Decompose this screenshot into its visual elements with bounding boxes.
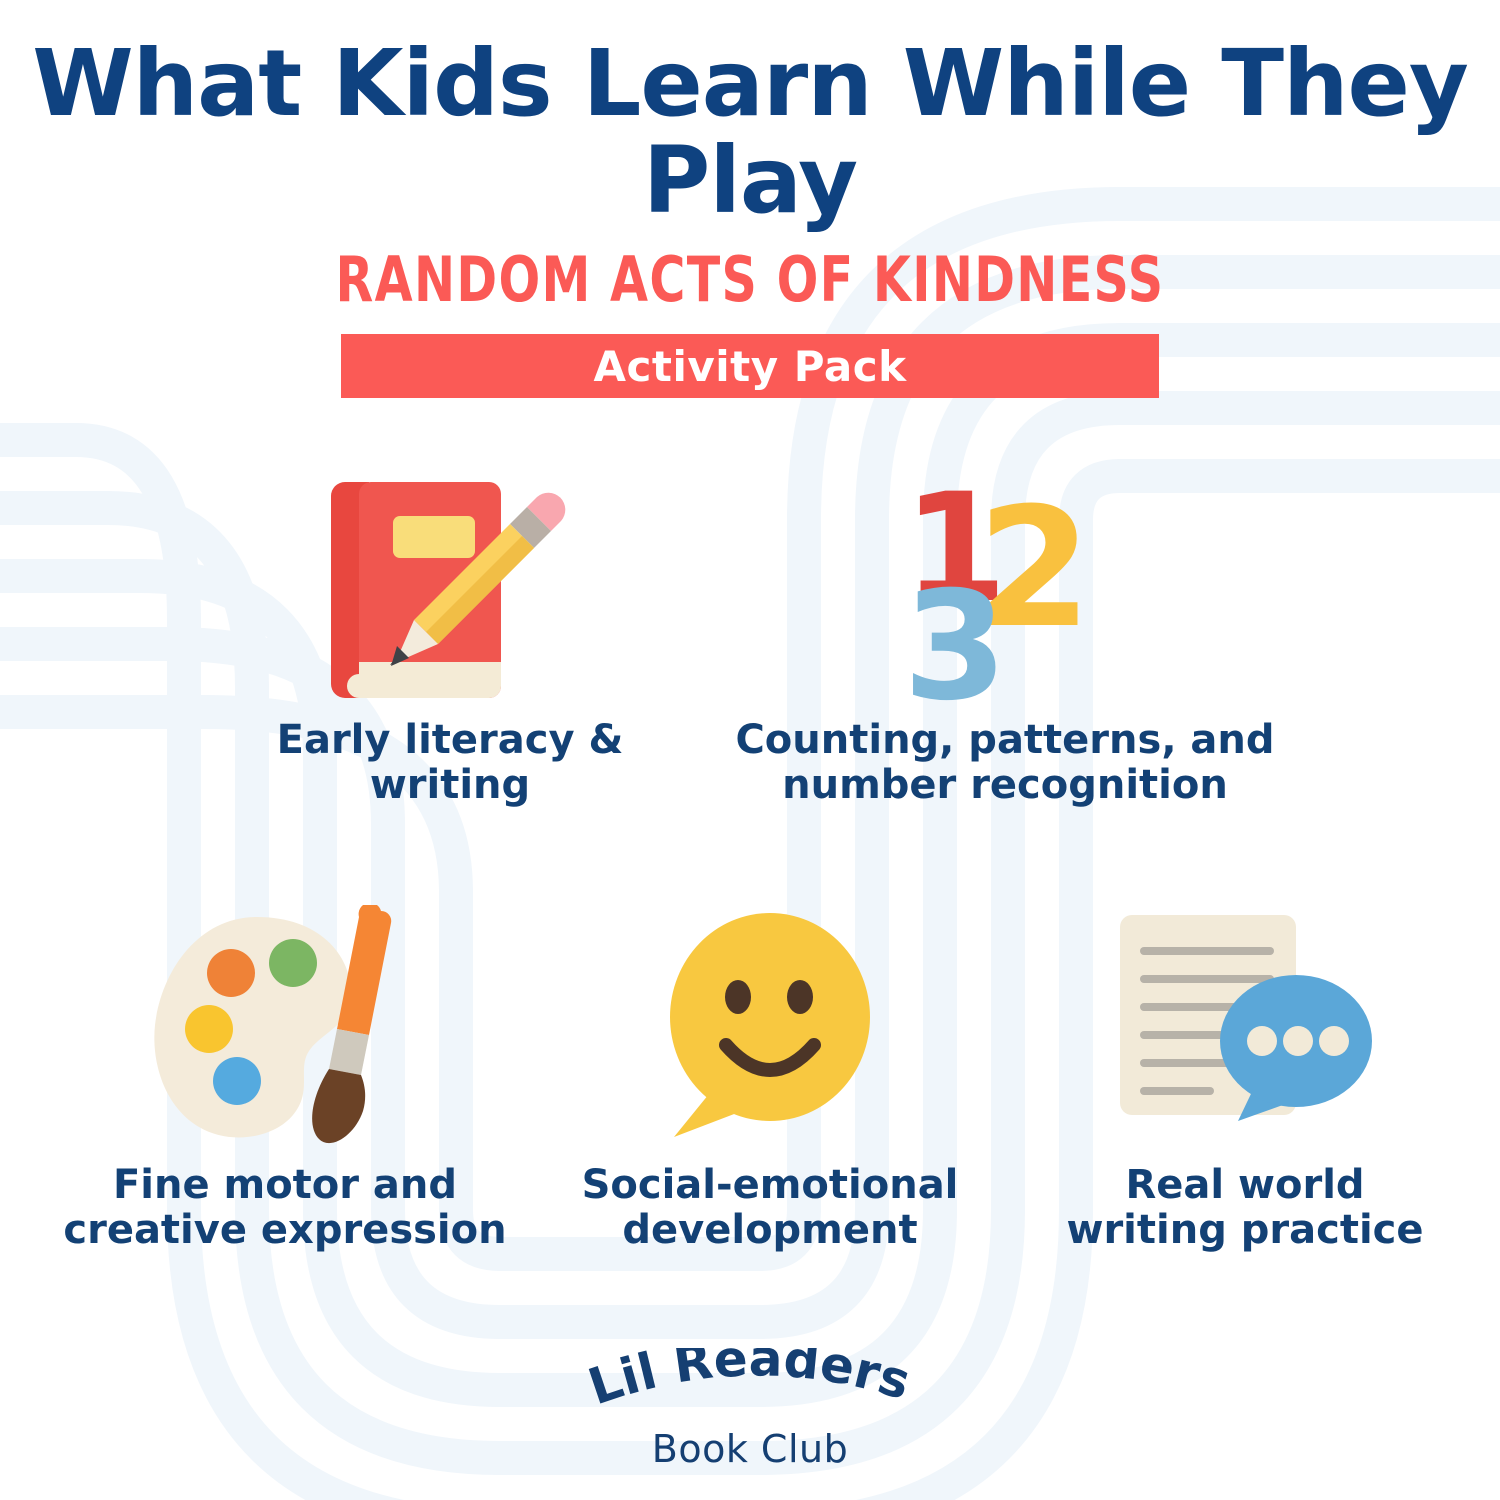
numbers-123-icon: 1 2 3 <box>895 470 1115 710</box>
card-early-literacy: Early literacy & writing <box>215 470 685 808</box>
book-and-pencil-icon <box>315 470 585 710</box>
card-label-social-emotional: Social-emotional development <box>555 1163 985 1253</box>
bubble-dot-3 <box>1319 1026 1349 1056</box>
card-label-counting-patterns: Counting, patterns, and number recogniti… <box>725 718 1285 808</box>
bubble-dot-2 <box>1283 1026 1313 1056</box>
logo-brand-arc: Lil Readers <box>550 1348 950 1428</box>
card-label-early-literacy: Early literacy & writing <box>215 718 685 808</box>
smiley-eye-left <box>725 980 751 1014</box>
poster-canvas: What Kids Learn While They Play RANDOM A… <box>0 0 1500 1500</box>
bubble-dot-1 <box>1247 1026 1277 1056</box>
activity-pack-banner: Activity Pack <box>341 334 1159 398</box>
card-label-real-world-writing: Real world writing practice <box>1010 1163 1480 1253</box>
card-social-emotional: Social-emotional development <box>555 905 985 1253</box>
logo-sub-text: Book Club <box>0 1427 1500 1471</box>
palette-dot-green <box>269 939 317 987</box>
palette-dot-blue <box>213 1057 261 1105</box>
document-and-speech-bubble-icon <box>1110 905 1380 1155</box>
smiley-speech-bubble-icon <box>660 905 880 1155</box>
card-counting-patterns: 1 2 3 Counting, patterns, and number rec… <box>725 470 1285 808</box>
palette-dot-orange <box>207 949 255 997</box>
header: What Kids Learn While They Play RANDOM A… <box>0 0 1500 398</box>
logo-brand-text: Lil Readers <box>581 1348 917 1416</box>
smiley-eye-right <box>787 980 813 1014</box>
paint-palette-and-brush-icon <box>145 905 425 1155</box>
banner-label: Activity Pack <box>593 342 906 391</box>
page-subtitle: RANDOM ACTS OF KINDNESS <box>90 229 1410 312</box>
number-three: 3 <box>903 560 1007 710</box>
card-real-world-writing: Real world writing practice <box>1010 905 1480 1253</box>
svg-text:Lil Readers: Lil Readers <box>581 1348 917 1416</box>
brand-logo: Lil Readers Book Club <box>0 1348 1500 1471</box>
card-label-fine-motor: Fine motor and creative expression <box>35 1163 535 1253</box>
palette-dot-yellow <box>185 1005 233 1053</box>
card-fine-motor: Fine motor and creative expression <box>35 905 535 1253</box>
page-title: What Kids Learn While They Play <box>0 0 1500 229</box>
